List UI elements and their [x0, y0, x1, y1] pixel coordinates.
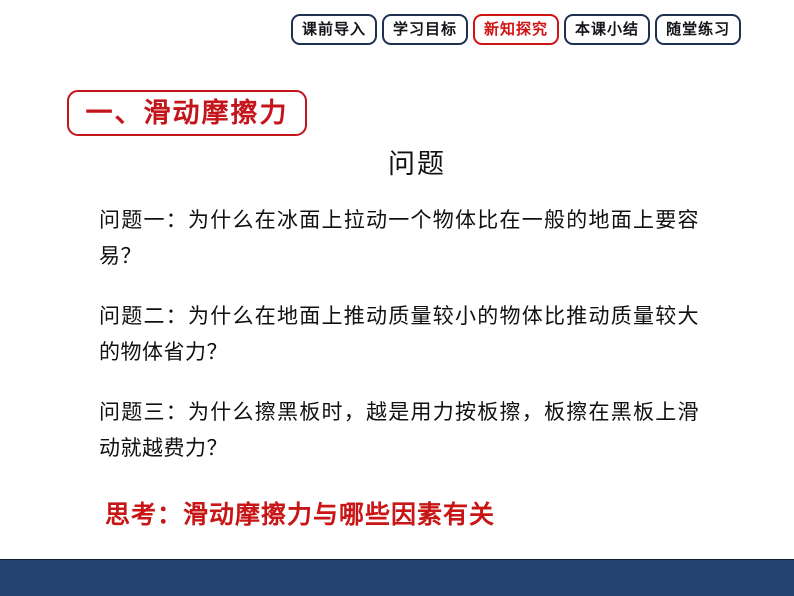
nav-tab-新知探究[interactable]: 新知探究	[473, 14, 559, 45]
think-prompt: 思考：滑动摩擦力与哪些因素有关	[105, 500, 495, 530]
question-item-3: 问题三：为什么擦黑板时，越是用力按板擦，板擦在黑板上滑动就越费力？	[99, 394, 699, 466]
nav-tab-课前导入[interactable]: 课前导入	[291, 14, 377, 45]
section-heading-text: 一、滑动摩擦力	[86, 100, 289, 127]
question-item-2: 问题二：为什么在地面上推动质量较小的物体比推动质量较大的物体省力？	[99, 298, 699, 370]
nav-tab-本课小结[interactable]: 本课小结	[564, 14, 650, 45]
nav-tabs: 课前导入 学习目标 新知探究 本课小结 随堂练习	[291, 14, 741, 45]
question-item-1: 问题一：为什么在冰面上拉动一个物体比在一般的地面上要容易？	[99, 202, 699, 274]
section-heading-box: 一、滑动摩擦力	[67, 90, 307, 136]
nav-tab-学习目标[interactable]: 学习目标	[382, 14, 468, 45]
footer-bar	[0, 559, 794, 596]
question-list: 问题一：为什么在冰面上拉动一个物体比在一般的地面上要容易？ 问题二：为什么在地面…	[99, 202, 699, 466]
page-subtitle: 问题	[0, 148, 794, 182]
slide-root: 课前导入 学习目标 新知探究 本课小结 随堂练习 一、滑动摩擦力 问题 问题一：…	[0, 0, 794, 596]
nav-tab-随堂练习[interactable]: 随堂练习	[655, 14, 741, 45]
